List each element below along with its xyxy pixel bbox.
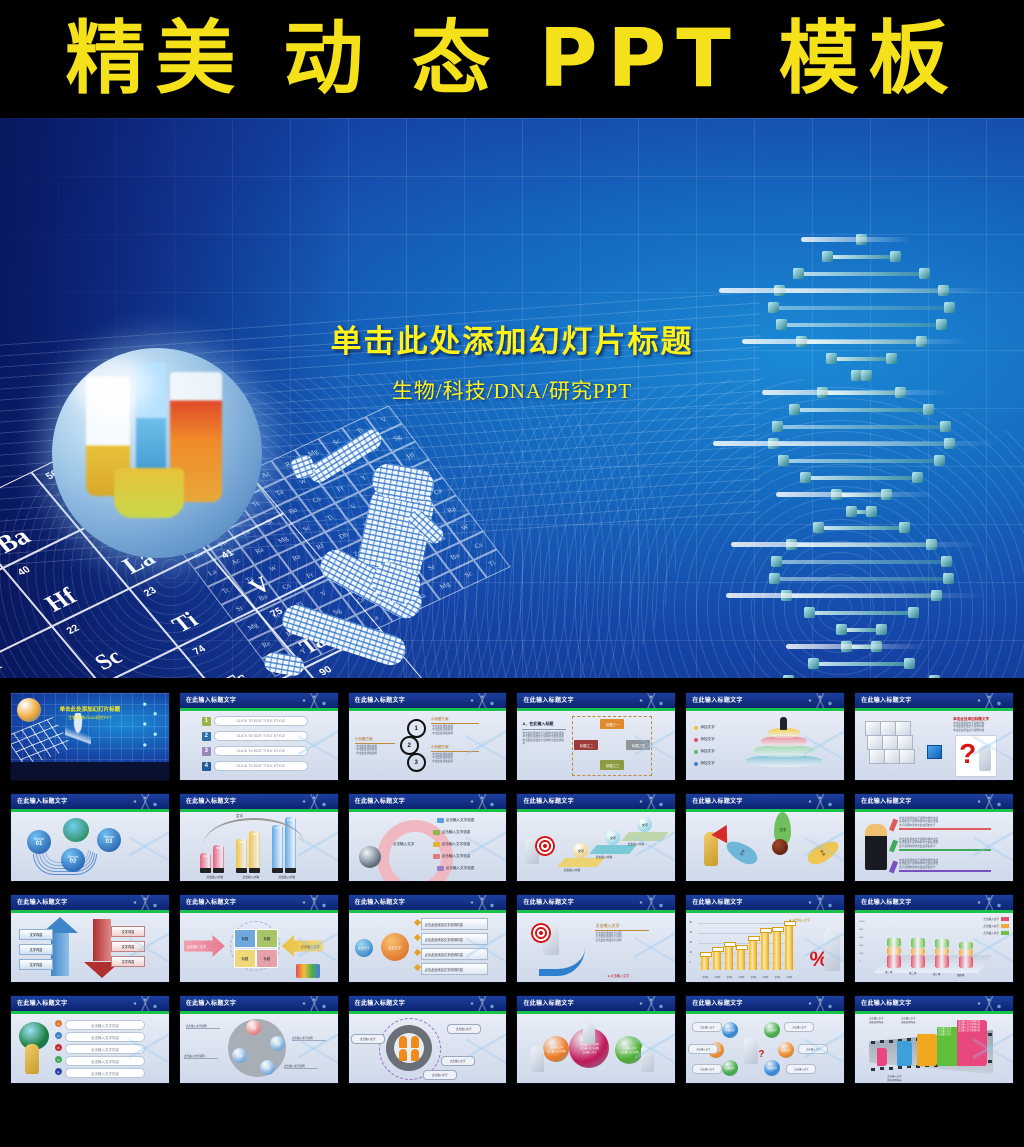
- grid-cell[interactable]: 标题: [234, 929, 256, 948]
- thumbnail-body: 文字内容文字内容文字内容文字内容文字内容文字内容: [11, 913, 169, 982]
- dna-node: [822, 251, 833, 262]
- thumbnail-header-title: 在此输入标题文字: [692, 998, 742, 1007]
- legend-label: 点击输入文字: [983, 917, 999, 921]
- dna-decoration-icon: [633, 895, 673, 910]
- dna-node: [919, 268, 930, 279]
- legend-item: 点击输入文字信息: [433, 830, 471, 835]
- thumbnail-body: 点击输入文字点击此处添加文字说明点击此处添加文字说明点击此处添加文字说明● 点击…: [517, 913, 675, 982]
- dna-rung: [805, 476, 916, 480]
- step-label: 点击输入内容: [563, 868, 580, 872]
- dna-rung: [777, 425, 944, 429]
- list-item[interactable]: 4CLICK TO EDIT TITLE STYLE: [202, 761, 308, 771]
- bullet-row-pill[interactable]: 点击输入文字内容: [65, 1032, 145, 1042]
- dna-node: [846, 506, 857, 517]
- element-number: 40: [16, 565, 33, 579]
- thumbnail-six-spheres[interactable]: 在此输入标题文字标题文字标题文字标题文字标题文字标题文字标题文字点击输入文字点击…: [685, 995, 845, 1084]
- thumbnail-filmstrip[interactable]: 在此输入标题文字点击输入文字点击输入文字点击输入文字点击输入文字说明内容点击输入…: [854, 995, 1014, 1084]
- flower-center: [772, 839, 788, 855]
- globe-icon: [359, 846, 381, 868]
- dna-node: [800, 472, 811, 483]
- sphere-callout[interactable]: 点击输入文字: [786, 1064, 816, 1074]
- thumbnail-body: 点击输入文字点击输入文字标题标题标题标题: [180, 913, 338, 982]
- thumbnail-header: 在此输入标题文字: [517, 794, 675, 812]
- legend-item: 点击输入文字: [983, 917, 1009, 921]
- thumbnail-header: 在此输入标题文字: [349, 794, 507, 812]
- dna-decoration-icon: [296, 895, 336, 910]
- figure-icon-right: [641, 1044, 654, 1072]
- network-node[interactable]: 标题: [260, 1060, 275, 1075]
- item-title-pill[interactable]: CLICK TO EDIT TITLE STYLE: [214, 716, 308, 726]
- bar-cap: [748, 936, 760, 941]
- right-text-box[interactable]: 文字内容: [111, 956, 145, 967]
- thumbnail-header-title: 在此输入标题文字: [186, 897, 236, 906]
- film-panel[interactable]: [897, 1041, 912, 1066]
- right-text-box[interactable]: 文字内容: [111, 926, 145, 937]
- cube-unit: [895, 721, 911, 736]
- diagram-box[interactable]: 标题之二: [574, 740, 598, 750]
- thumbnail-globe-bullets[interactable]: 在此输入标题文字A点击输入文字内容C点击输入文字内容B点击输入文字内容D点击输入…: [10, 995, 170, 1084]
- stacked-segment: [959, 949, 973, 956]
- item-number: 3: [202, 747, 211, 756]
- dna-decoration-icon: [971, 996, 1011, 1011]
- step-sphere: 文字: [573, 843, 588, 858]
- legend-color-chip: [1001, 924, 1009, 928]
- side-line: 单: [522, 742, 566, 745]
- left-text-box[interactable]: 文字内容: [19, 959, 53, 970]
- petal[interactable]: 文字: [805, 837, 843, 869]
- top-callout: 点击输入文字 添加说明内容: [869, 1016, 897, 1024]
- cube-stack: [865, 721, 917, 767]
- text-row: 单击此处添加文字说明内容单击此处添加文字说明内容单击此处添加文字说明内容单击此处…: [899, 838, 991, 851]
- right-text-box[interactable]: 文字内容: [111, 941, 145, 952]
- stacked-segment: [887, 947, 901, 955]
- y-tick: 40%: [859, 945, 863, 947]
- stacked-segment: [911, 948, 925, 956]
- dna-rung: [818, 526, 905, 530]
- legend-item: 添加文字: [694, 761, 714, 766]
- bar: [761, 933, 769, 970]
- dna-decoration-icon: [802, 794, 842, 809]
- x-tick: 第一季: [885, 970, 892, 974]
- hero-subtitle[interactable]: 生物/科技/DNA/研究PPT: [0, 375, 1024, 405]
- film-panel[interactable]: [917, 1034, 937, 1066]
- bullet-row-pill[interactable]: 点击输入文字内容: [65, 1020, 145, 1030]
- element-number: 22: [65, 623, 82, 637]
- pencils-icon: [296, 964, 320, 978]
- pencil-icon: [889, 840, 898, 853]
- thumbnail-network-diagram[interactable]: 在此输入标题文字标题标题标题标题点击输入文字说明点击输入文字说明点击输入文字说明…: [179, 995, 339, 1084]
- legend-color-chip: [437, 866, 444, 871]
- thumbnail-body: 标题文字标题文字标题文字标题文字标题文字标题文字点击输入文字点击输入文字点击输入…: [686, 1014, 844, 1083]
- radial-callout[interactable]: 点击输入文字: [447, 1024, 481, 1034]
- dna-node: [944, 302, 955, 313]
- film-perforation-top: [889, 1040, 893, 1043]
- legend-color-chip: [433, 830, 440, 835]
- sphere-callout[interactable]: 点击输入文字: [692, 1022, 722, 1032]
- bar-base: [200, 868, 211, 873]
- item-title-pill[interactable]: CLICK TO EDIT TITLE STYLE: [214, 731, 308, 741]
- thumbnail-body: 文字文字文字文字文字文字: [686, 812, 844, 881]
- block-line: 点击此处添加文字说明: [595, 939, 649, 942]
- dna-node: [804, 607, 815, 618]
- element-symbol-small: V: [370, 412, 397, 429]
- thumbnail-header-title: 在此输入标题文字: [861, 897, 911, 906]
- bar-cap: [760, 928, 772, 933]
- thumbnail-header: 在此输入标题文字: [686, 996, 844, 1014]
- y-tick: 60: [689, 931, 692, 934]
- connector-marker: [414, 934, 421, 941]
- node-sphere-a[interactable]: 点击文字: [355, 939, 373, 957]
- mini-hero-slide: 单击此处添加幻灯片标题生物/科技/DNA/研究PPT: [11, 693, 169, 762]
- businessman-figure: [865, 824, 887, 870]
- sphere-line: 点击输入文字说明: [547, 1049, 566, 1053]
- grid-cell[interactable]: 标题: [256, 949, 278, 968]
- thumbnail-header-title: 在此输入标题文字: [17, 897, 67, 906]
- dna-rung: [773, 306, 949, 310]
- legend-label: 点击输入文字信息: [446, 866, 475, 871]
- thumbnail-body: 点击输入文字点击输入文字点击输入文字点击输入文字: [349, 1014, 507, 1083]
- group-heading: 小标题方案: [431, 717, 479, 722]
- network-node[interactable]: 标题: [232, 1048, 247, 1063]
- dna-decoration-icon: [296, 794, 336, 809]
- diagram-box[interactable]: 标题之四: [626, 740, 650, 750]
- bar: [773, 932, 781, 971]
- element-symbol-small: Ra: [246, 542, 273, 559]
- dna-rung: [776, 560, 946, 564]
- bar: [785, 926, 793, 970]
- thumbnail-arrows-grid[interactable]: 在此输入标题文字点击输入文字点击输入文字标题标题标题标题: [179, 894, 339, 983]
- item-title-pill[interactable]: CLICK TO EDIT TITLE STYLE: [214, 746, 308, 756]
- dna-node: [813, 522, 824, 533]
- dna-node: [940, 421, 951, 432]
- dna-node: [768, 302, 779, 313]
- question-mark-icon: ?: [959, 737, 976, 771]
- legend-color-chip: [1001, 917, 1009, 921]
- gridline: [698, 923, 794, 924]
- element-symbol-small: Sr: [256, 513, 283, 530]
- legend-item: 添加文字: [694, 749, 714, 754]
- connector-marker: [414, 964, 421, 971]
- y-tick: 20%: [859, 953, 863, 955]
- dna-decoration-icon: [296, 996, 336, 1011]
- bar-group-label: 点击输入内容: [234, 875, 268, 879]
- sphere-node[interactable]: 标题文字: [764, 1060, 780, 1076]
- bar-cap: [724, 942, 736, 947]
- thumbnail-3d-bars[interactable]: 在此输入标题文字100800点击输入内容10001200点击输入内容1,5002…: [179, 793, 339, 882]
- network-node[interactable]: 标题: [246, 1020, 261, 1035]
- left-arrow[interactable]: 点击输入文字: [184, 935, 225, 957]
- legend-color-dot: [694, 762, 698, 766]
- thumbnail-header: 在此输入标题文字: [855, 693, 1013, 711]
- film-perforation-bottom: [880, 1067, 884, 1070]
- x-tick: 第二季: [909, 971, 916, 975]
- sphere-node[interactable]: 点击输入文字点击输入文字说明: [615, 1036, 643, 1064]
- dna-node: [771, 556, 782, 567]
- thumbnail-header: 在此输入标题文字: [11, 794, 169, 812]
- bottom-callout: 点击输入文字 添加说明内容: [887, 1074, 917, 1082]
- bar-value: 100: [199, 854, 212, 858]
- side-text: A、在此输入标题单击此处添加文字说明单击此处添加单击此处添加文字说明单击此处添加…: [522, 721, 566, 746]
- dna-node: [772, 421, 783, 432]
- step-platform: [558, 858, 606, 867]
- figure-icon: [744, 1038, 758, 1064]
- service-number: 01: [36, 841, 43, 847]
- left-text-box[interactable]: 文字内容: [19, 944, 53, 955]
- thumbnail-layered-pyramid[interactable]: 在此输入标题文字添加文字添加文字添加文字添加文字: [685, 692, 845, 781]
- thumbnail-service-circles[interactable]: 在此输入标题文字Service01Service02Service03: [10, 793, 170, 882]
- film-perforation-bottom: [988, 1060, 992, 1063]
- dna-rung: [841, 628, 881, 632]
- film-panel[interactable]: [877, 1048, 887, 1066]
- thumbnail-circular-process[interactable]: 在此输入标题文字123小标题方案· 单击此处添加说明· 单击此处添加说明· 单击…: [348, 692, 508, 781]
- thumbnail-numbered-list[interactable]: 在此输入标题文字1CLICK TO EDIT TITLE STYLE2CLICK…: [179, 692, 339, 781]
- note-line: 单击此处添加文字说明内容: [953, 729, 993, 732]
- bullet-marker: D: [55, 1056, 62, 1063]
- dna-decoration-icon: [296, 693, 336, 708]
- text-block: 点击输入文字点击此处添加文字说明点击此处添加文字说明点击此处添加文字说明: [595, 923, 649, 942]
- sphere-node[interactable]: 标题文字: [778, 1042, 794, 1058]
- thumbnail-header: 在此输入标题文字: [180, 693, 338, 711]
- text-row: 单击此处添加文字说明内容单击此处添加文字说明内容单击此处添加文字说明内容单击此处…: [899, 859, 991, 872]
- highlight-cube: [927, 745, 942, 759]
- people-icon: [399, 1036, 407, 1048]
- diagram-box[interactable]: 标题之三: [600, 760, 624, 770]
- bullet-row-pill[interactable]: 点击输入文字内容: [65, 1068, 145, 1078]
- grid-cell[interactable]: 标题: [234, 949, 256, 968]
- people-icon: [399, 1049, 407, 1061]
- y-tick: 100%: [859, 921, 865, 923]
- grid-cell[interactable]: 标题: [256, 929, 278, 948]
- stacked-segment: [959, 956, 973, 968]
- service-circle[interactable]: Service03: [97, 828, 121, 852]
- sphere-node[interactable]: 点击输入文字点击输入文字说明: [543, 1036, 569, 1062]
- element-number: 23: [142, 585, 159, 599]
- bar-value: 800: [212, 846, 225, 850]
- figure-icon-top: [583, 1022, 595, 1044]
- radial-callout[interactable]: 点击输入文字: [351, 1034, 385, 1044]
- sphere-node[interactable]: 标题文字: [764, 1022, 780, 1038]
- film-perforation-top: [880, 1040, 884, 1043]
- thumbnail-header-title: 在此输入标题文字: [186, 796, 236, 805]
- bar: [725, 947, 733, 970]
- sphere-callout[interactable]: 点击输入文字: [784, 1022, 814, 1032]
- thumbnail-radial-people[interactable]: 在此输入标题文字点击输入文字点击输入文字点击输入文字点击输入文字: [348, 995, 508, 1084]
- thumbnail-up-down-arrows[interactable]: 在此输入标题文字文字内容文字内容文字内容文字内容文字内容文字内容: [10, 894, 170, 983]
- stacked-segment: [911, 955, 925, 968]
- radial-callout[interactable]: 点击输入文字: [441, 1056, 475, 1066]
- thumbnail-body: A、在此输入标题单击此处添加文字说明单击此处添加单击此处添加文字说明单击此处添加…: [517, 711, 675, 780]
- dna-node: [943, 573, 954, 584]
- figure-icon: [25, 1044, 39, 1074]
- element-symbol-small: Ba: [250, 589, 277, 606]
- thumbnail-businessman-rows[interactable]: 在此输入标题文字单击此处添加文字说明内容单击此处添加文字说明内容单击此处添加文字…: [854, 793, 1014, 882]
- info-box[interactable]: 点击此处添加文字说明内容: [421, 963, 488, 975]
- element-symbol-small: Sr: [226, 600, 253, 617]
- person-icon: [780, 717, 787, 730]
- divider: [431, 723, 479, 724]
- dna-node: [908, 607, 919, 618]
- stacked-segment: [887, 955, 901, 969]
- cube-unit: [867, 735, 883, 750]
- target-icon: [535, 836, 555, 856]
- dna-glow-streak: [801, 237, 911, 242]
- film-perforation-bottom: [898, 1066, 902, 1069]
- right-arrow[interactable]: 点击输入文字: [282, 935, 323, 957]
- thumbnail-body: Service01Service02Service03: [11, 812, 169, 881]
- legend-label: 添加文字: [700, 737, 714, 742]
- film-panel[interactable]: 点击输入文字说明内容点击输入文字说明内容点击输入文字说明内容点击输入文字说明内容: [957, 1020, 987, 1066]
- block-footer: ● 点击输入文字: [607, 973, 629, 978]
- thumbnail-body: 123小标题方案· 单击此处添加说明· 单击此处添加说明· 单击此处添加说明小标…: [349, 711, 507, 780]
- dna-decoration-icon: [464, 693, 504, 708]
- item-title-pill[interactable]: CLICK TO EDIT TITLE STYLE: [214, 761, 308, 771]
- thumbnail-stacked-3d-chart[interactable]: 在此输入标题文字100%80%60%40%20%0第一季第二季第三季第四季点击输…: [854, 894, 1014, 983]
- legend-item: 点击输入文字信息: [433, 854, 471, 859]
- element-symbol-small: Tc: [213, 582, 240, 599]
- dna-node: [783, 675, 794, 678]
- film-perforation-top: [871, 1041, 875, 1044]
- legend-color-chip: [437, 818, 444, 823]
- network-callout: 点击输入文字说明: [184, 1054, 218, 1059]
- thumbnail-header-title: 在此输入标题文字: [355, 796, 405, 805]
- legend-item: 点击输入文字信息: [433, 842, 471, 847]
- thumbnail-target-arrow[interactable]: 在此输入标题文字点击输入文字点击此处添加文字说明点击此处添加文字说明点击此处添加…: [516, 894, 676, 983]
- thumbnail-three-spheres[interactable]: 在此输入标题文字点击输入文字点击输入文字说明点击输入文字说明点击输入文字说明点击…: [516, 995, 676, 1084]
- sphere-callout[interactable]: 点击输入文字: [688, 1044, 718, 1054]
- dna-rung: [798, 272, 924, 276]
- dna-rung: [827, 255, 896, 259]
- thumbnail-header: 在此输入标题文字: [855, 996, 1013, 1014]
- thumbnail-header: 在此输入标题文字: [517, 895, 675, 913]
- dna-decoration-icon: [127, 794, 167, 809]
- dna-decoration-icon: [464, 895, 504, 910]
- thumbnail-sphere-tree[interactable]: 在此输入标题文字点击文字点击文字点击此处添加文字说明内容点击此处添加文字说明内容…: [348, 894, 508, 983]
- thumbnail-donut-legend[interactable]: 在此输入标题文字点击输入文字点击输入文字信息点击输入文字信息点击输入文字信息点击…: [348, 793, 508, 882]
- y-tick: 40: [689, 941, 692, 944]
- service-number: 03: [106, 839, 113, 845]
- hero-slide: 12Ca20Sr38Ba56Cs88Fr87Y39Zr40Hf72La57Ac8…: [0, 118, 1024, 678]
- step-label: 点击输入内容: [627, 842, 644, 846]
- legend-label: 点击输入文字信息: [442, 854, 471, 859]
- thumbnail-body: 单击此处添加标题文字单击此处添加文字说明内容单击此处添加文字说明内容单击此处添加…: [855, 711, 1013, 780]
- step-sphere: 文字: [637, 817, 652, 832]
- step-sphere: 文字: [605, 830, 620, 845]
- y-tick: 80%: [859, 929, 863, 931]
- thumbnail-step-platforms[interactable]: 在此输入标题文字文字点击输入内容文字点击输入内容文字点击输入内容: [516, 793, 676, 882]
- element-symbol-small: Sg: [384, 429, 411, 446]
- thumbnail-header-title: 在此输入标题文字: [692, 796, 742, 805]
- thumbnail-body: 单击此处添加文字说明内容单击此处添加文字说明内容单击此处添加文字说明内容单击此处…: [855, 812, 1013, 881]
- side-line: 单击此处添加文字说明单击此处添加: [522, 739, 566, 742]
- cube-unit: [899, 749, 915, 764]
- thumbnail-title-slide[interactable]: 单击此处添加幻灯片标题生物/科技/DNA/研究PPT: [10, 692, 170, 781]
- y-tick: 80: [689, 921, 692, 924]
- bullet-row-pill[interactable]: 点击输入文字内容: [65, 1044, 145, 1054]
- legend-label: 添加文字: [700, 761, 714, 766]
- x-tick: 第四季: [957, 973, 964, 977]
- dna-node: [923, 404, 934, 415]
- node-sphere-b[interactable]: 点击文字: [381, 933, 409, 961]
- text-group: 小标题方案· 单击此处添加说明· 单击此处添加说明· 单击此处添加说明: [355, 737, 395, 755]
- thumbnail-body: 点击输入文字点击输入文字信息点击输入文字信息点击输入文字信息点击输入文字信息点击…: [349, 812, 507, 881]
- dna-node: [890, 251, 901, 262]
- bar-base: [213, 868, 224, 873]
- thumbnail-header-title: 在此输入标题文字: [861, 695, 911, 704]
- dna-decoration-icon: [802, 895, 842, 910]
- bar-cap: [700, 952, 712, 957]
- thumbnail-diamond-diagram[interactable]: 在此输入标题文字A、在此输入标题单击此处添加文字说明单击此处添加单击此处添加文字…: [516, 692, 676, 781]
- dna-node: [904, 658, 915, 669]
- bar-cap: [772, 927, 784, 932]
- dna-node: [912, 472, 923, 483]
- arrow-down-shaft: [93, 919, 111, 961]
- film-perforation-bottom: [871, 1068, 875, 1071]
- hero-title[interactable]: 单击此处添加幻灯片标题: [0, 316, 1024, 361]
- figure-icon: [824, 927, 840, 971]
- sphere-node[interactable]: 标题文字: [722, 1022, 738, 1038]
- row-underline: [899, 870, 991, 871]
- list-item[interactable]: 3CLICK TO EDIT TITLE STYLE: [202, 746, 308, 756]
- info-box[interactable]: 点击此处添加文字说明内容: [421, 933, 488, 945]
- bullet-marker: B: [55, 1044, 62, 1051]
- info-box[interactable]: 点击此处添加文字说明内容: [421, 918, 488, 930]
- thumbnail-flower-diagram[interactable]: 在此输入标题文字文字文字文字文字文字文字: [685, 793, 845, 882]
- thumbnail-body: A点击输入文字内容C点击输入文字内容B点击输入文字内容D点击输入文字内容E点击输…: [11, 1014, 169, 1083]
- thumbnail-header: 在此输入标题文字: [180, 895, 338, 913]
- thumbnail-body: 标题标题标题标题点击输入文字说明点击输入文字说明点击输入文字说明点击输入文字说明: [180, 1014, 338, 1083]
- legend-color-dot: [694, 750, 698, 754]
- diagram-box[interactable]: 标题之一: [600, 719, 624, 729]
- element-symbol: Ti: [167, 608, 204, 639]
- thumbnail-header-title: 在此输入标题文字: [523, 796, 573, 805]
- radial-callout[interactable]: 点击输入文字: [423, 1070, 457, 1080]
- sphere-callout[interactable]: 点击输入文字: [798, 1044, 828, 1054]
- thumbnail-header: 在此输入标题文字: [855, 794, 1013, 812]
- left-text-box[interactable]: 文字内容: [19, 929, 53, 940]
- info-box[interactable]: 点击此处添加文字说明内容: [421, 948, 488, 960]
- legend-item: 点击输入文字信息: [437, 866, 475, 871]
- bullet-marker: C: [55, 1032, 62, 1039]
- thumbnail-cube-question[interactable]: 在此输入标题文字单击此处添加标题文字单击此处添加文字说明内容单击此处添加文字说明…: [854, 692, 1014, 781]
- bullet-row-pill[interactable]: 点击输入文字内容: [65, 1056, 145, 1066]
- row-line: 文字说明内容单击此处添加文字: [899, 824, 991, 827]
- petal[interactable]: 文字: [723, 837, 761, 869]
- bar-cap: [736, 945, 748, 950]
- element-symbol: Tc: [217, 667, 254, 678]
- element-symbol: Hf: [40, 584, 83, 618]
- network-node[interactable]: 标题: [270, 1036, 285, 1051]
- sphere-node[interactable]: 标题文字: [722, 1060, 738, 1076]
- step-platform: [590, 845, 638, 854]
- list-item[interactable]: 1CLICK TO EDIT TITLE STYLE: [202, 716, 308, 726]
- legend-item: 点击输入文字: [983, 924, 1009, 928]
- sphere-callout[interactable]: 点击输入文字: [692, 1064, 722, 1074]
- dna-rung: [809, 611, 912, 615]
- bar-base: [236, 868, 247, 873]
- group-heading: 小标题方案: [355, 737, 395, 742]
- legend-color-dot: [694, 738, 698, 742]
- list-item[interactable]: 2CLICK TO EDIT TITLE STYLE: [202, 731, 308, 741]
- donut-center-label: 点击输入文字: [383, 842, 425, 847]
- stacked-segment: [911, 938, 925, 948]
- thumbnail-header: 在此输入标题文字: [349, 895, 507, 913]
- banner: 精美 动 态 PPT 模板: [0, 0, 1024, 118]
- element-symbol-small: Ta: [236, 571, 263, 588]
- thumbnail-bar-percent[interactable]: 在此输入标题文字806040200下半年下半年下半年下半年下半年下半年下半年下半…: [685, 894, 845, 983]
- dna-glow-streak: [719, 288, 993, 293]
- y-tick: 60%: [859, 937, 863, 939]
- mini-hero-title: 单击此处添加幻灯片标题: [11, 705, 169, 713]
